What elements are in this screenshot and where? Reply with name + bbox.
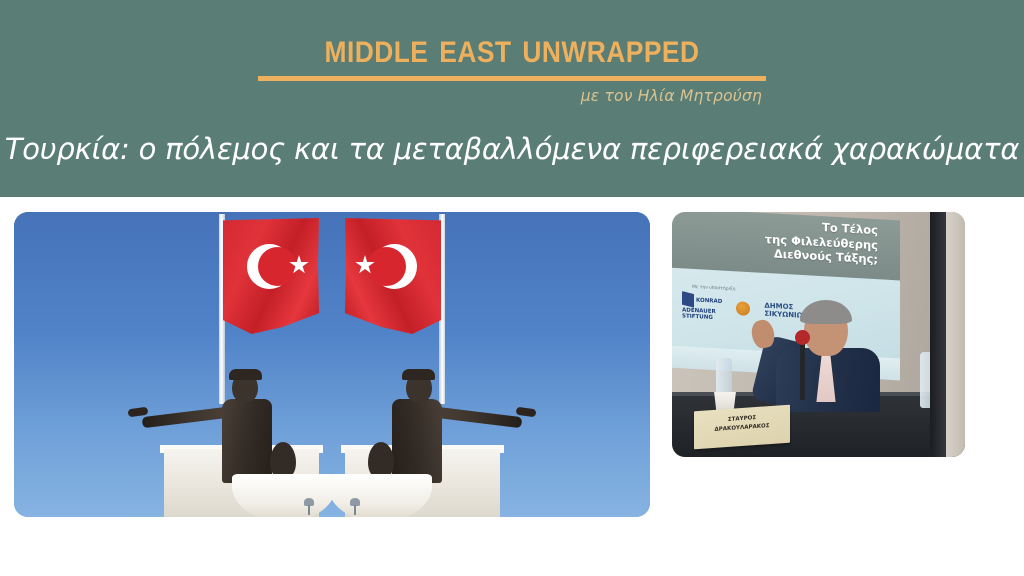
planter-bowl (232, 474, 332, 517)
statue-arm (436, 407, 523, 428)
statue-pointing-hand (516, 407, 537, 418)
academy-mark-icon (736, 301, 750, 316)
lamp-icon (350, 498, 360, 514)
statue-arm (142, 407, 229, 428)
main-photo (14, 212, 650, 517)
ataturk-statue (374, 372, 464, 482)
title-underline (258, 76, 766, 81)
kas-mark-icon (682, 291, 694, 308)
crescent-icon (372, 244, 417, 289)
door-frame-dark (930, 212, 946, 457)
content-stage: Το Τέλος της Φιλελεύθερης Διεθνούς Τάξης… (0, 197, 1024, 576)
header-band: Middle East Unwrapped με τον Ηλία Μητρού… (0, 0, 1024, 197)
speaker-video-thumbnail: Το Τέλος της Φιλελεύθερης Διεθνούς Τάξης… (672, 212, 965, 457)
name-placard-text: ΣΤΑΥΡΟΣ ΔΡΑΚΟΥΛΑΡΑΚΟΣ (694, 412, 790, 436)
statue-child-figure (270, 442, 296, 476)
speaker-hair (800, 300, 852, 324)
crescent-icon (247, 244, 292, 289)
episode-title: Τουρκία: ο πόλεμος και τα μεταβαλλόμενα … (0, 132, 1024, 166)
show-title: Middle East Unwrapped (61, 27, 962, 70)
planter-bowl (332, 474, 432, 517)
name-placard: ΣΤΑΥΡΟΣ ΔΡΑΚΟΥΛΑΡΑΚΟΣ (694, 405, 790, 450)
speaker-figure (772, 304, 880, 404)
lamp-icon (304, 498, 314, 514)
ataturk-statue (200, 372, 290, 482)
photo-half-right (332, 212, 650, 517)
statue-child-figure (368, 442, 394, 476)
statue-torso (392, 399, 442, 483)
sponsor-logo-academy (736, 301, 750, 316)
photo-half-left (14, 212, 332, 517)
statue-cap (229, 369, 262, 380)
sponsor-logo-kas: KONRADADENAUERSTIFTUNG (682, 291, 722, 322)
microphone-icon (800, 340, 805, 400)
show-host-line: με τον Ηλία Μητρούση (0, 87, 1024, 105)
statue-torso (222, 399, 272, 483)
statue-cap (402, 369, 435, 380)
door-frame-light (946, 212, 965, 457)
